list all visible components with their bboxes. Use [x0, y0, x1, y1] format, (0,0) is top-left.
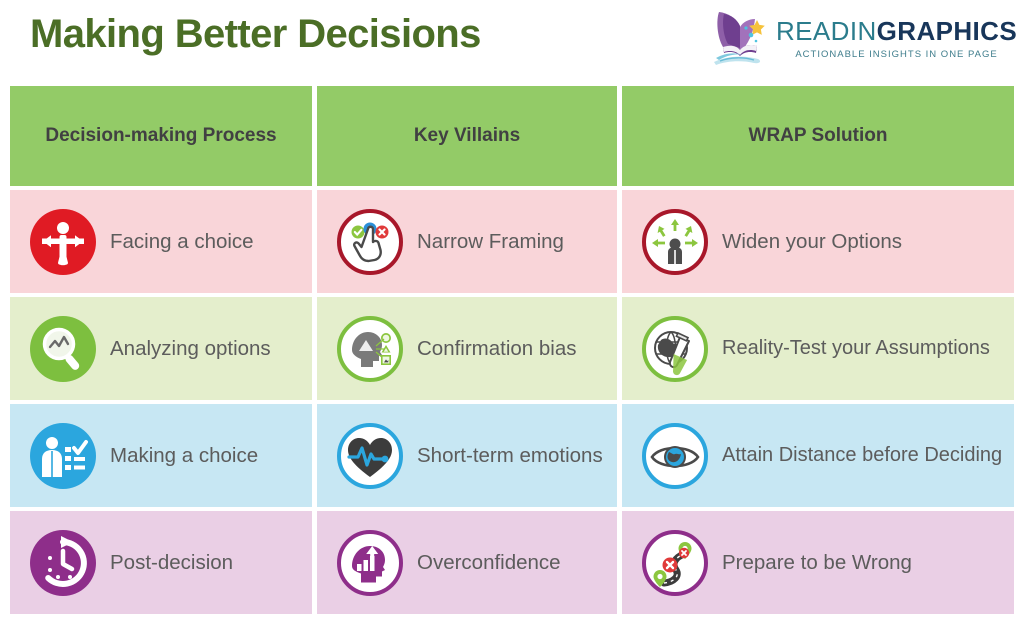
column-header-wrap-solution: WRAP Solution: [622, 86, 1014, 186]
cell-reality-test-your-assumptions: Reality-Test your Assumptions: [622, 297, 1014, 400]
head-bargraph-icon: [335, 528, 405, 598]
heart-pulse-icon: [335, 421, 405, 491]
column-header-label: Decision-making Process: [45, 124, 276, 148]
logo-tagline: ACTIONABLE INSIGHTS IN ONE PAGE: [776, 49, 1017, 60]
table-row: Facing a choice Narrow Framing: [10, 190, 1014, 293]
cell-post-decision: Post-decision: [10, 511, 312, 614]
globe-flask-icon: [640, 314, 710, 384]
cell-label: Short-term emotions: [417, 443, 603, 469]
cell-analyzing-options: Analyzing options: [10, 297, 312, 400]
clock-rewind-icon: [28, 528, 98, 598]
cell-label: Analyzing options: [110, 336, 271, 362]
cell-attain-distance-before-deciding: Attain Distance before Deciding: [622, 404, 1014, 507]
table-header-row: Decision-making Process Key Villains WRA…: [10, 86, 1014, 186]
cell-label: Narrow Framing: [417, 229, 564, 255]
logo-word-part-1: READIN: [776, 16, 877, 46]
winding-road-pins-icon: [640, 528, 710, 598]
table-row: Making a choice Short-term emotions: [10, 404, 1014, 507]
cell-overconfidence: Overconfidence: [317, 511, 617, 614]
book-sparkle-icon: [710, 10, 772, 68]
column-header-label: WRAP Solution: [749, 124, 888, 148]
logo-word-part-2: GRAPHICS: [877, 16, 1017, 46]
eye-icon: [640, 421, 710, 491]
cell-label: Widen your Options: [722, 229, 902, 255]
logo-word: READINGRAPHICS: [776, 18, 1017, 45]
cell-label: Facing a choice: [110, 229, 254, 255]
cell-label: Overconfidence: [417, 550, 561, 576]
person-checklist-icon: [28, 421, 98, 491]
table-row: Post-decision Overconfidence: [10, 511, 1014, 614]
magnifier-chart-icon: [28, 314, 98, 384]
brand-logo: READINGRAPHICS ACTIONABLE INSIGHTS IN ON…: [710, 8, 1006, 70]
column-header-key-villains: Key Villains: [317, 86, 617, 186]
person-arrows-icon: [28, 207, 98, 277]
cell-label: Attain Distance before Deciding: [722, 443, 1002, 468]
table-row: Analyzing options: [10, 297, 1014, 400]
error-badge-small: [679, 547, 689, 557]
cell-narrow-framing: Narrow Framing: [317, 190, 617, 293]
header-bar: Making Better Decisions READINGRAPHICS A: [0, 0, 1024, 82]
cell-facing-a-choice: Facing a choice: [10, 190, 312, 293]
head-filter-icon: [335, 314, 405, 384]
cell-widen-your-options: Widen your Options: [622, 190, 1014, 293]
logo-wordmark: READINGRAPHICS ACTIONABLE INSIGHTS IN ON…: [776, 18, 1017, 59]
infographic-page: Making Better Decisions READINGRAPHICS A: [0, 0, 1024, 623]
cell-making-a-choice: Making a choice: [10, 404, 312, 507]
cell-label: Post-decision: [110, 550, 233, 576]
column-header-decision-making-process: Decision-making Process: [10, 86, 312, 186]
comparison-table: Decision-making Process Key Villains WRA…: [10, 86, 1014, 618]
person-expanding-arrows-icon: [640, 207, 710, 277]
cell-prepare-to-be-wrong: Prepare to be Wrong: [622, 511, 1014, 614]
cell-label: Reality-Test your Assumptions: [722, 336, 990, 361]
cell-confirmation-bias: Confirmation bias: [317, 297, 617, 400]
cell-short-term-emotions: Short-term emotions: [317, 404, 617, 507]
cell-label: Confirmation bias: [417, 336, 577, 362]
column-header-label: Key Villains: [414, 124, 520, 148]
hand-pointer-options-icon: [335, 207, 405, 277]
error-badge-large: [663, 557, 678, 572]
cell-label: Making a choice: [110, 443, 258, 469]
page-title: Making Better Decisions: [30, 12, 481, 57]
cell-label: Prepare to be Wrong: [722, 550, 912, 576]
